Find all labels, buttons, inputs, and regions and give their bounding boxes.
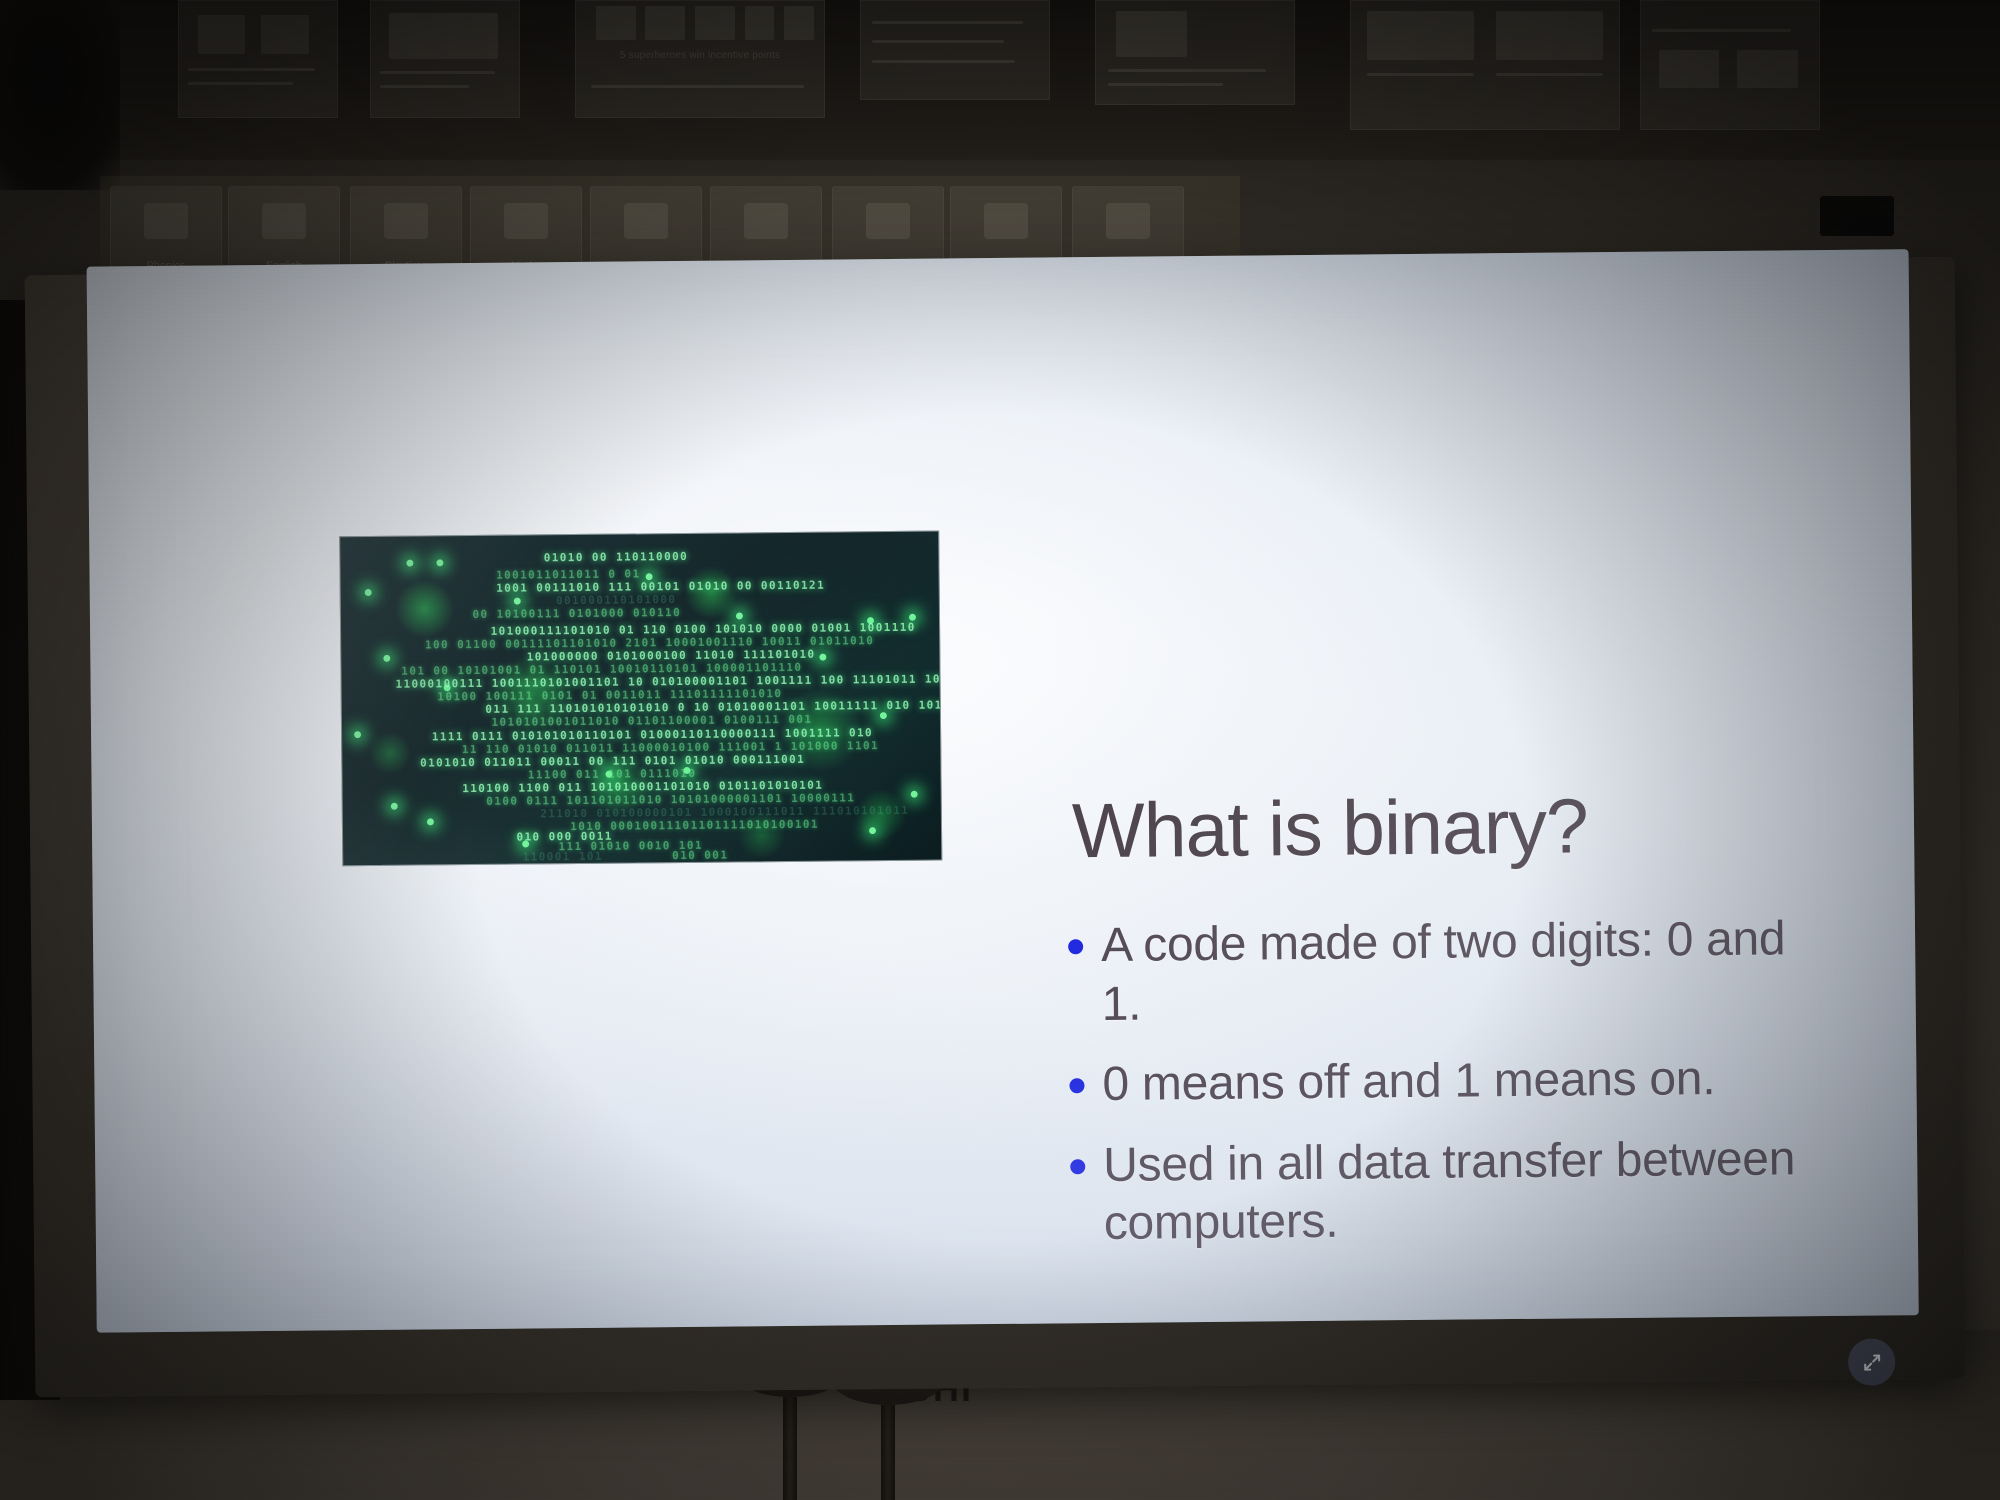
card-icon [866,203,910,239]
bullet-text: Used in all data transfer between comput… [1103,1130,1831,1254]
bullet-dot-icon [1070,1159,1085,1174]
dark-cabinet [0,0,120,190]
binary-row: 01010 00 110110000 [544,550,689,564]
binary-row: 010 001 [672,848,728,862]
card-icon [262,203,306,239]
card-icon [144,203,188,239]
poster-caption: 5 superheroes win incentive points [576,50,824,61]
card-icon [984,203,1028,239]
expand-arrows-icon [1860,1350,1884,1374]
card-icon [1106,203,1150,239]
wall-poster [1095,0,1295,105]
bullet-item: Used in all data transfer between comput… [1070,1130,1831,1254]
wall-sign [1820,196,1894,236]
fullscreen-expand-button[interactable] [1848,1338,1895,1385]
wall-poster [1350,0,1620,130]
bullet-dot-icon [1069,1078,1084,1093]
binary-code-image: 01010 00 110110000 1001011011011 0 01 10… [339,531,942,867]
binary-row: 00 10100111 0101000 010110 [472,606,681,621]
timetable-card: Phonics [110,186,222,278]
bullet-dot-icon [1068,939,1083,954]
slide-bullet-list: A code made of two digits: 0 and 1. 0 me… [1068,910,1831,1276]
binary-row: 1001011011011 0 01 [496,567,641,581]
stool-leg [881,1405,895,1500]
stool-leg [783,1397,797,1500]
binary-row: 110001 101 [523,850,603,864]
bullet-text: A code made of two digits: 0 and 1. [1101,910,1829,1034]
card-icon [504,203,548,239]
slide-title: What is binary? [1072,786,1833,870]
room-photo: 5 superheroes win incentive points Phoni… [0,0,2000,1500]
presentation-slide[interactable]: 01010 00 110110000 1001011011011 0 01 10… [87,249,1919,1332]
interactive-whiteboard[interactable]: 01010 00 110110000 1001011011011 0 01 10… [25,257,1966,1397]
wall-poster [370,0,520,118]
wall-poster-superheroes: 5 superheroes win incentive points [575,0,825,118]
bullet-text: 0 means off and 1 means on. [1102,1050,1715,1114]
wall-poster [860,0,1050,100]
wall-poster [1640,0,1820,130]
wall-poster [178,0,338,118]
card-icon [744,203,788,239]
bullet-item: A code made of two digits: 0 and 1. [1068,910,1829,1034]
card-icon [384,203,428,239]
tv-screen[interactable]: 01010 00 110110000 1001011011011 0 01 10… [87,249,1919,1332]
bullet-item: 0 means off and 1 means on. [1069,1049,1830,1115]
card-icon [624,203,668,239]
binary-row: 001000110101000 [556,593,676,607]
